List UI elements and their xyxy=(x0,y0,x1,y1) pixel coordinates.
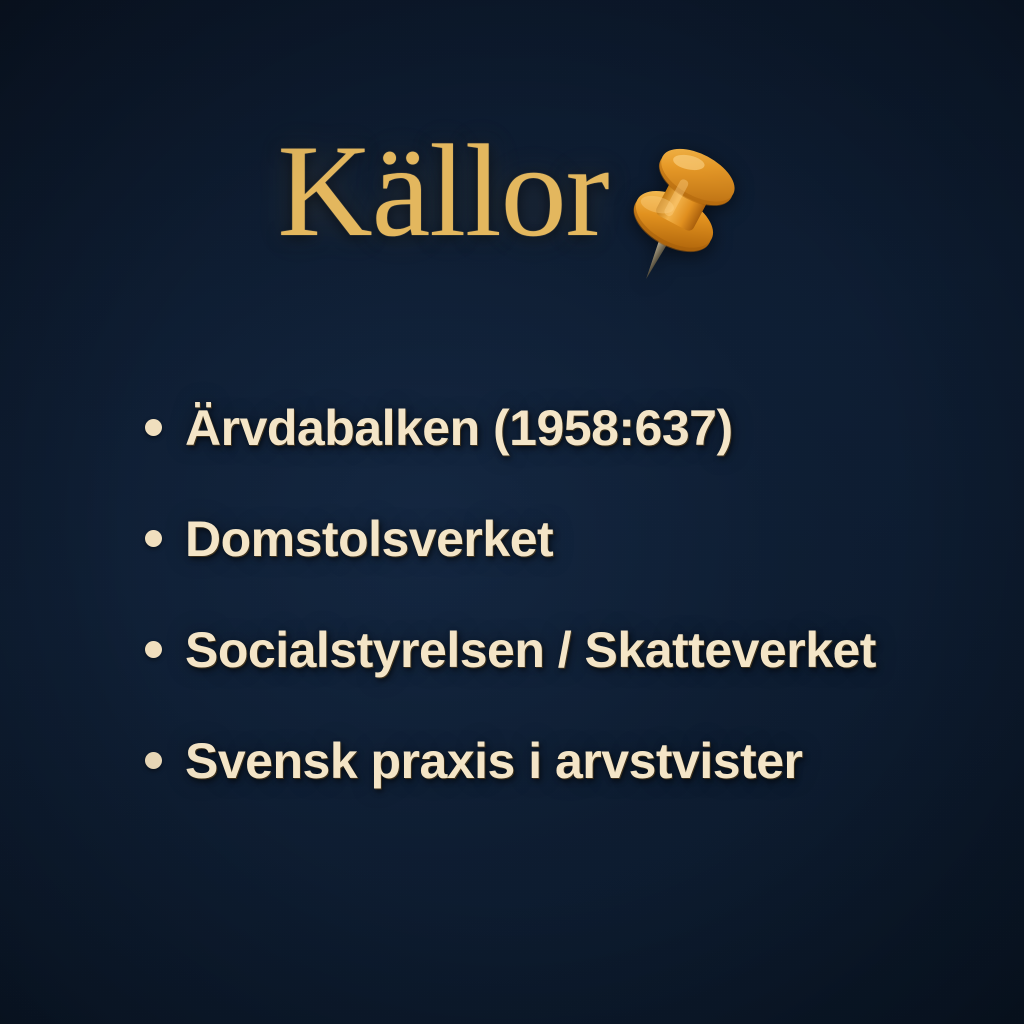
sources-list: Ärvdabalken (1958:637) Domstolsverket So… xyxy=(145,372,1005,816)
bullet-dot-icon xyxy=(145,530,162,547)
pushpin-icon xyxy=(615,137,747,277)
list-item-label: Ärvdabalken (1958:637) xyxy=(185,399,733,457)
list-item: Svensk praxis i arvstvister xyxy=(145,705,1005,816)
pushpin-glyph xyxy=(615,137,747,292)
bullet-dot-icon xyxy=(145,419,162,436)
presentation-slide: Källor xyxy=(0,0,1024,1024)
list-item: Ärvdabalken (1958:637) xyxy=(145,372,1005,483)
slide-title-row: Källor xyxy=(0,125,1024,277)
list-item-label: Domstolsverket xyxy=(185,510,553,568)
bullet-dot-icon xyxy=(145,641,162,658)
list-item: Domstolsverket xyxy=(145,483,1005,594)
list-item: Socialstyrelsen / Skatteverket xyxy=(145,594,1005,705)
list-item-label: Svensk praxis i arvstvister xyxy=(185,732,802,790)
page-title: Källor xyxy=(277,125,608,257)
bullet-dot-icon xyxy=(145,752,162,769)
list-item-label: Socialstyrelsen / Skatteverket xyxy=(185,621,876,679)
